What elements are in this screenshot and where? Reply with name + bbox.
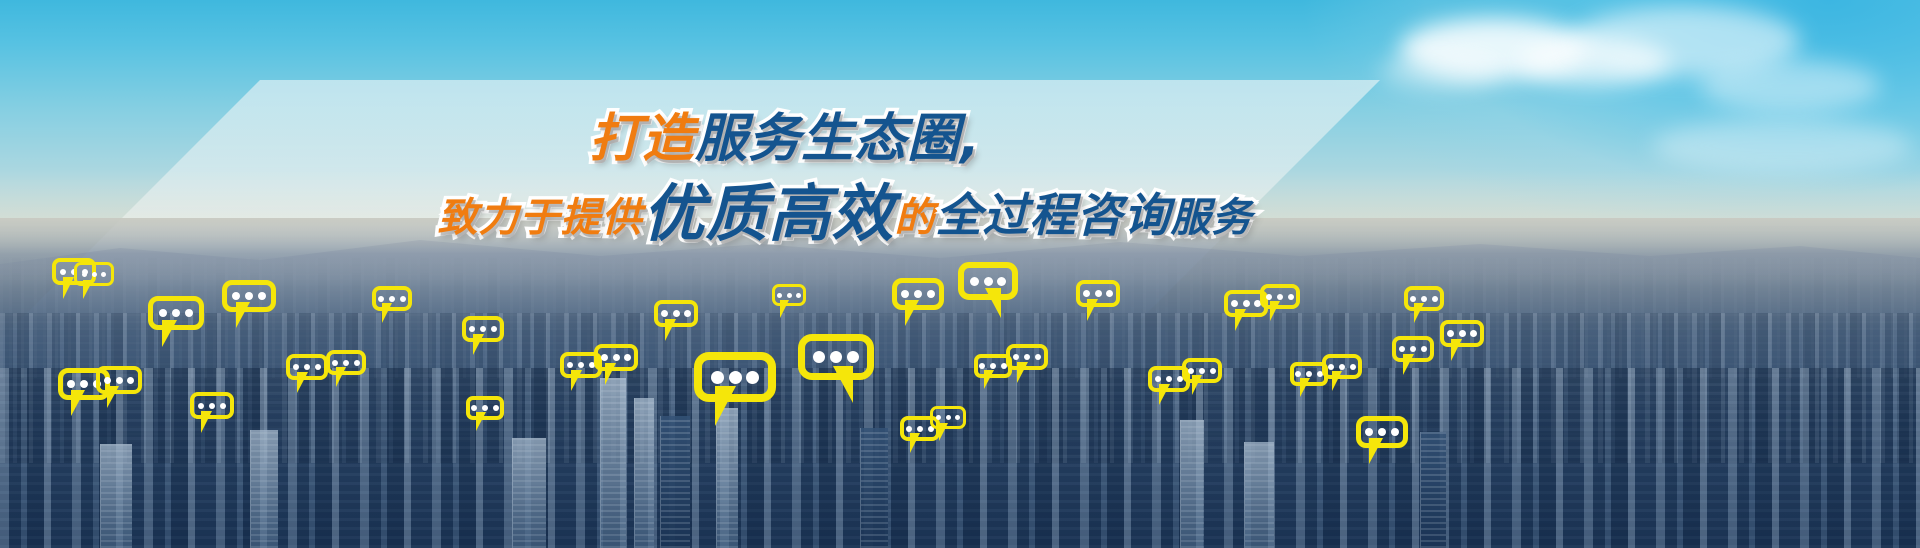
speech-bubble-icon xyxy=(892,278,944,310)
bubble-dot xyxy=(914,290,922,298)
bubble-dot xyxy=(378,296,384,302)
bubble-dot xyxy=(624,354,631,361)
speech-bubble-icon xyxy=(190,392,234,419)
bubble-dot xyxy=(1365,428,1373,436)
bubble-tail xyxy=(984,370,994,389)
bubble-dot xyxy=(946,415,951,420)
bubble-tail xyxy=(1451,339,1462,361)
bubble-dot xyxy=(245,292,253,300)
bubble-dot xyxy=(729,371,742,384)
speech-bubble-icon xyxy=(1392,336,1434,362)
bubble-dot xyxy=(813,351,825,363)
speech-bubble-icon xyxy=(462,316,504,342)
bubble-dot xyxy=(469,326,475,332)
speech-bubble-icon xyxy=(1006,344,1048,370)
bubble-dot xyxy=(1459,330,1466,337)
promo-banner: 打造服务生态圈, 致力于提供优质高效的全过程咨询服务 xyxy=(0,0,1920,548)
bubble-dot xyxy=(82,272,87,277)
speech-bubble-icon xyxy=(96,366,142,394)
bubble-dot xyxy=(901,290,909,298)
bubble-dot xyxy=(917,426,923,432)
speech-bubble-icon xyxy=(222,280,276,312)
bubble-tail xyxy=(382,303,392,323)
bubble-dot xyxy=(984,277,993,286)
bubble-dot xyxy=(1421,346,1427,352)
bubble-dot xyxy=(955,415,960,420)
bubble-dot xyxy=(1210,368,1216,374)
bubble-dot xyxy=(127,377,134,384)
cloud-icon xyxy=(1380,52,1500,90)
bubble-tail xyxy=(107,386,119,408)
bubble-dot xyxy=(661,310,668,317)
speech-bubble-icon xyxy=(958,262,1018,300)
speech-bubble-icon xyxy=(1182,358,1222,383)
speech-bubble-icon xyxy=(74,262,114,286)
bubble-tail xyxy=(605,363,616,385)
bubble-dot xyxy=(1277,294,1283,300)
bubble-dot xyxy=(116,377,123,384)
bubble-dot xyxy=(1306,371,1312,377)
cloud-icon xyxy=(1700,60,1880,112)
bubble-dot xyxy=(220,403,226,409)
bubble-dot xyxy=(258,292,266,300)
speech-bubble-icon xyxy=(286,354,328,380)
bubble-dot xyxy=(67,380,75,388)
bubble-tail xyxy=(1017,362,1028,383)
bubble-dot xyxy=(80,380,88,388)
bubble-dot xyxy=(1106,290,1113,297)
bubble-dot xyxy=(796,293,801,298)
bubble-tail xyxy=(780,300,789,318)
bubble-dot xyxy=(491,326,497,332)
bubble-dot xyxy=(906,426,912,432)
bubble-dot xyxy=(92,272,97,277)
bubble-tail xyxy=(1332,371,1342,391)
bubble-dot xyxy=(684,310,691,317)
bubble-tail xyxy=(71,390,85,416)
bubble-dot xyxy=(847,351,859,363)
bubble-dot xyxy=(1024,354,1030,360)
bubble-dot xyxy=(354,360,360,366)
bubble-dot xyxy=(1231,300,1238,307)
bubble-dot xyxy=(1391,428,1399,436)
bubble-tail xyxy=(571,370,582,391)
speech-bubble-icon xyxy=(1356,416,1408,448)
bubble-dot xyxy=(1155,376,1161,382)
bubble-tail xyxy=(201,411,212,433)
speech-bubble-icon xyxy=(148,296,204,330)
speech-bubble-icon xyxy=(466,396,504,420)
bubble-dot xyxy=(232,292,240,300)
bubble-dot xyxy=(1339,364,1345,370)
bubble-dot xyxy=(1095,290,1102,297)
bubble-dot xyxy=(159,309,167,317)
bubble-dot xyxy=(1295,371,1301,377)
speech-bubble-icon xyxy=(654,300,698,327)
bubble-tail xyxy=(162,320,177,347)
speech-bubble-icon xyxy=(372,286,412,311)
speech-bubble-icon xyxy=(1440,320,1484,347)
speech-bubble-icon xyxy=(594,344,638,371)
bubble-tail xyxy=(833,366,853,403)
speech-bubble-icon xyxy=(798,334,874,380)
bubble-dot xyxy=(471,405,477,411)
bubble-dot xyxy=(1350,364,1356,370)
bubble-dot xyxy=(493,405,499,411)
bubble-tail xyxy=(336,367,346,387)
bubble-tail xyxy=(1270,301,1280,321)
bubble-dot xyxy=(1410,346,1416,352)
bubble-dot xyxy=(104,377,111,384)
bubble-dot xyxy=(172,309,180,317)
bubble-dot xyxy=(1199,368,1205,374)
speech-bubble-icon xyxy=(1404,286,1444,311)
bubble-tail xyxy=(1087,299,1098,321)
bubble-dot xyxy=(746,371,759,384)
bubble-tail xyxy=(905,300,919,326)
speech-bubble-icon xyxy=(326,350,366,375)
bubble-dot xyxy=(209,403,215,409)
bubble-dot xyxy=(482,405,488,411)
bubble-dot xyxy=(1166,376,1172,382)
bubble-dot xyxy=(1421,296,1427,302)
bubble-tail xyxy=(473,334,484,355)
bubble-dot xyxy=(1432,296,1438,302)
bubble-tail xyxy=(1403,354,1414,375)
bubble-dot xyxy=(1013,354,1019,360)
bubble-dot xyxy=(480,326,486,332)
bubble-dot xyxy=(830,351,842,363)
bubble-tail xyxy=(1300,378,1310,397)
bubble-dot xyxy=(927,290,935,298)
bubble-dot xyxy=(101,272,106,277)
bubble-tail xyxy=(715,386,736,426)
bubble-dot xyxy=(1083,290,1090,297)
bubble-dot xyxy=(1328,364,1334,370)
bubble-dot xyxy=(1410,296,1416,302)
bubble-dot xyxy=(185,309,193,317)
bubble-dot xyxy=(1447,330,1454,337)
bubble-dot xyxy=(198,403,204,409)
bubble-dot xyxy=(60,269,66,275)
cloud-icon xyxy=(1652,118,1912,174)
bubble-dot xyxy=(332,360,338,366)
bubble-dot xyxy=(1035,354,1041,360)
bubble-tail xyxy=(476,412,486,431)
bubble-tail xyxy=(910,433,920,453)
bubble-tail xyxy=(63,277,74,299)
speech-bubble-icon xyxy=(930,406,966,429)
bubble-tail xyxy=(1414,303,1424,323)
speech-bubble-icon xyxy=(1076,280,1120,307)
bubble-tail xyxy=(1235,309,1246,331)
bubble-tail xyxy=(236,302,250,328)
bubble-tail xyxy=(985,288,1001,318)
bubble-dot xyxy=(990,363,996,369)
bubble-dot xyxy=(315,364,321,370)
bubble-dot xyxy=(601,354,608,361)
bubble-tail xyxy=(83,280,93,299)
speech-bubble-icon xyxy=(772,284,806,306)
speech-bubble-icon xyxy=(1260,284,1300,309)
bubble-dot xyxy=(970,277,979,286)
bubble-dot xyxy=(936,415,941,420)
bubble-dot xyxy=(613,354,620,361)
bubble-dot xyxy=(578,362,584,368)
bubble-dot xyxy=(1188,368,1194,374)
bubble-dot xyxy=(787,293,792,298)
bubble-dot xyxy=(777,293,782,298)
bubble-dot xyxy=(711,371,724,384)
bubble-dot xyxy=(567,362,573,368)
bubble-dot xyxy=(389,296,395,302)
bubble-dot xyxy=(1266,294,1272,300)
bubble-dot xyxy=(304,364,310,370)
bubble-dot xyxy=(400,296,406,302)
bubble-tail xyxy=(297,372,308,393)
bubble-dot xyxy=(1378,428,1386,436)
bubble-dot xyxy=(343,360,349,366)
bubble-dot xyxy=(293,364,299,370)
bubble-tail xyxy=(1369,438,1383,464)
bubble-dot xyxy=(1399,346,1405,352)
bubble-tail xyxy=(939,423,948,441)
bubble-tail xyxy=(665,319,676,341)
bubble-dot xyxy=(997,277,1006,286)
bubble-dot xyxy=(1470,330,1477,337)
bubble-tail xyxy=(1159,384,1170,405)
bubble-dot xyxy=(1288,294,1294,300)
bubble-dot xyxy=(673,310,680,317)
bubble-dot xyxy=(1243,300,1250,307)
speech-bubble-icon xyxy=(1322,354,1362,379)
speech-bubble-icon xyxy=(694,352,776,402)
bubble-dot xyxy=(979,363,985,369)
bubble-tail xyxy=(1192,375,1202,395)
